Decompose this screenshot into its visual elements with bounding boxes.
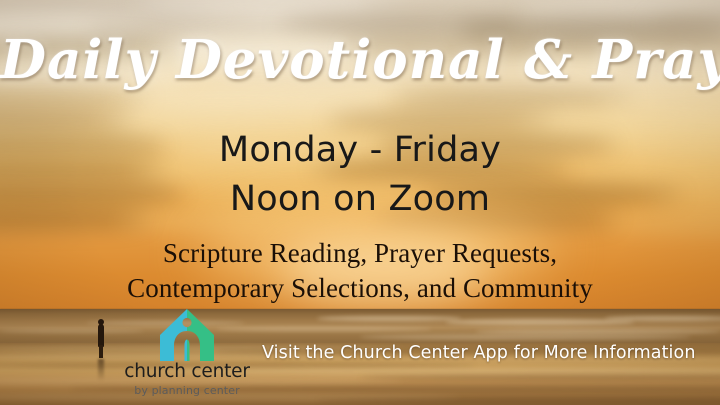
description-line-2: Contemporary Selections, and Community [0, 275, 720, 302]
church-center-house-arch-icon [160, 309, 214, 361]
ocean-water [0, 309, 720, 343]
call-to-action-text: Visit the Church Center App for More Inf… [262, 345, 696, 363]
church-center-logo[interactable]: church center by planning center [113, 309, 261, 399]
devotional-announcement-slide: Daily Devotional & Prayer Monday - Frida… [0, 0, 720, 405]
schedule-time: Noon on Zoom [0, 182, 720, 217]
description-line-1: Scripture Reading, Prayer Requests, [0, 240, 720, 267]
page-title: Daily Devotional & Prayer [0, 34, 720, 87]
church-center-wordmark: church center [113, 363, 261, 382]
schedule-days: Monday - Friday [0, 133, 720, 168]
church-center-sub-wordmark: by planning center [113, 385, 261, 396]
